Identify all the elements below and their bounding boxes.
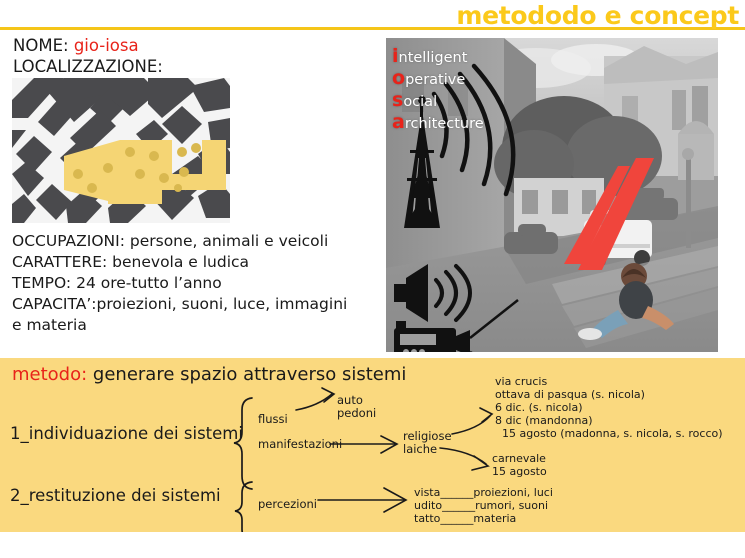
attribute-value: benevola e ludica — [112, 253, 249, 271]
acronym-rest: ocial — [403, 94, 437, 110]
method-heading: metodo: generare spazio attraverso siste… — [12, 364, 406, 385]
page-title: metododo e concept — [456, 2, 739, 29]
acronym-row: social — [392, 90, 484, 112]
percezione-mapping: udito______rumori, suoni — [414, 499, 548, 513]
attribute-label: OCCUPAZIONI: — [12, 232, 125, 250]
acronym-row: operative — [392, 68, 484, 90]
branch-item-flussi: flussi — [258, 413, 288, 427]
attribute-row: OCCUPAZIONI: persone, animali e veicoli — [12, 231, 347, 252]
acronym-row: intelligent — [392, 46, 484, 68]
method-keyword: metodo: — [12, 364, 87, 385]
percezione-mapping: vista______proiezioni, luci — [414, 486, 553, 500]
attribute-label: CARATTERE: — [12, 253, 107, 271]
sense-result: materia — [473, 512, 516, 525]
site-plan-svg — [12, 78, 230, 223]
attribute-row: e materia — [12, 315, 347, 336]
acronym-initial: a — [392, 111, 405, 133]
sense-sep: ______ — [440, 486, 473, 499]
attribute-row: CARATTERE: benevola e ludica — [12, 252, 347, 273]
religiose-item: 6 dic. (s. nicola) — [495, 401, 582, 415]
attribute-value: persone, animali e veicoli — [130, 232, 328, 250]
attribute-row: TEMPO: 24 ore-tutto l’anno — [12, 273, 347, 294]
branch-item-percezioni: percezioni — [258, 498, 317, 512]
acronym-row: architecture — [392, 112, 484, 134]
attribute-value: proiezioni, suoni, luce, immagini — [97, 295, 348, 313]
acronym-initial: o — [392, 67, 405, 89]
target-laiche: laiche — [403, 443, 437, 457]
acronym-initial: s — [392, 89, 403, 111]
method-heading-text: generare spazio attraverso sistemi — [87, 364, 406, 385]
laiche-item: carnevale — [492, 452, 546, 466]
acronym-rest: ntelligent — [399, 50, 468, 66]
method-panel: metodo: generare spazio attraverso siste… — [0, 358, 745, 532]
sense-label: vista — [414, 486, 440, 499]
acronym-rest: perative — [405, 72, 465, 88]
nome-line: NOME: gio-iosa — [13, 36, 139, 55]
laiche-item: 15 agosto — [492, 465, 547, 479]
sense-result: rumori, suoni — [475, 499, 548, 512]
method-step-2-label: 2_restituzione dei sistemi — [10, 486, 221, 505]
nome-value: gio-iosa — [74, 36, 139, 55]
street-photo-montage: intelligent operative social architectur… — [386, 38, 718, 352]
attribute-row: CAPACITA’:proiezioni, suoni, luce, immag… — [12, 294, 347, 315]
sense-sep: ______ — [442, 499, 475, 512]
attribute-label: TEMPO: — [12, 274, 71, 292]
percezione-mapping: tatto______materia — [414, 512, 516, 526]
religiose-item: 15 agosto (madonna, s. nicola, s. rocco) — [502, 427, 723, 441]
religiose-item: via crucis — [495, 375, 547, 389]
nome-label: NOME: — [13, 36, 69, 55]
attribute-value: e materia — [12, 316, 87, 334]
sense-sep: ______ — [440, 512, 473, 525]
attribute-value: 24 ore-tutto l’anno — [76, 274, 222, 292]
religiose-item: 8 dic (mandonna) — [495, 414, 593, 428]
attributes-list: OCCUPAZIONI: persone, animali e veicoli … — [12, 231, 347, 336]
religiose-item: ottava di pasqua (s. nicola) — [495, 388, 645, 402]
localizzazione-label: LOCALIZZAZIONE: — [13, 57, 163, 76]
sense-label: tatto — [414, 512, 440, 525]
iosa-acronym: intelligent operative social architectur… — [392, 46, 484, 134]
method-step-1-label: 1_individuazione dei sistemi — [10, 424, 243, 443]
attribute-label: CAPACITA’: — [12, 295, 97, 313]
branch-item-manifestazioni: manifestazioni — [258, 438, 342, 452]
sense-result: proiezioni, luci — [473, 486, 553, 499]
acronym-rest: rchitecture — [405, 116, 484, 132]
target-pedoni: pedoni — [337, 407, 376, 421]
site-plan-map — [12, 78, 230, 223]
sense-label: udito — [414, 499, 442, 512]
